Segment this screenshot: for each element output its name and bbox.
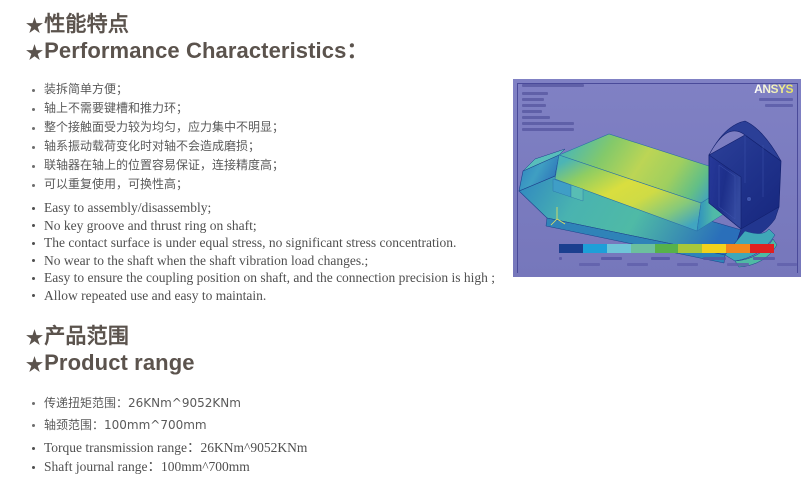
legend-tick-label: [601, 257, 622, 260]
legend-tick-label: [627, 263, 648, 266]
legend-tick-label: [753, 257, 775, 260]
list-item: Easy to ensure the coupling position on …: [30, 269, 495, 287]
legend-band: [559, 244, 583, 253]
legend-band: [726, 244, 750, 253]
performance-heading-block: ★性能特点 ★Performance Characteristics：: [0, 12, 520, 65]
star-icon: ★: [26, 17, 43, 36]
legend-band: [583, 244, 607, 253]
list-item: Easy to assembly/disassembly;: [30, 199, 495, 217]
product-range-section: ★产品范围 ★Product range 传递扭矩范围：26KNm^9052KN…: [0, 324, 520, 377]
product-heading-en: ★Product range: [26, 349, 520, 377]
ansys-fea-figure: ANSYS: [513, 79, 801, 277]
product-bullet-list-en: Torque transmission range：26KNm^9052KNm …: [0, 438, 307, 476]
legend-tick-label: [559, 257, 562, 260]
legend-band: [655, 244, 679, 253]
legend-band: [607, 244, 631, 253]
product-heading-block: ★产品范围 ★Product range: [0, 324, 520, 377]
performance-bullet-list-en: Easy to assembly/disassembly; No key gro…: [0, 199, 495, 304]
list-item: Allow repeated use and easy to maintain.: [30, 287, 495, 305]
legend-tick-label: [651, 257, 670, 260]
list-item: 轴上不需要键槽和推力环；: [30, 99, 284, 118]
page-root: ★性能特点 ★Performance Characteristics： 装拆简单…: [0, 0, 811, 477]
legend-tick-label: [677, 263, 698, 266]
performance-heading-cn: ★性能特点: [26, 12, 520, 37]
product-bullet-list-cn: 传递扭矩范围：26KNm^9052KNm 轴颈范围：100mm^700mm: [0, 392, 241, 436]
list-item: The contact surface is under equal stres…: [30, 234, 495, 252]
list-item: Torque transmission range：26KNm^9052KNm: [30, 438, 307, 457]
fea-color-legend: [559, 244, 774, 253]
list-item: 联轴器在轴上的位置容易保证，连接精度高；: [30, 156, 284, 175]
legend-band: [678, 244, 702, 253]
performance-heading-en-text: Performance Characteristics：: [44, 38, 368, 63]
product-heading-cn-text: 产品范围: [44, 325, 129, 348]
list-item: No wear to the shaft when the shaft vibr…: [30, 252, 495, 270]
legend-tick-label: [777, 263, 797, 266]
product-heading-cn: ★产品范围: [26, 324, 520, 349]
legend-tick-label: [727, 263, 749, 266]
legend-tick-label: [703, 257, 726, 260]
star-icon: ★: [26, 356, 43, 375]
performance-heading-cn-text: 性能特点: [44, 13, 129, 36]
list-item: 整个接触面受力较为均匀，应力集中不明显；: [30, 118, 284, 137]
legend-tick-label: [579, 263, 600, 266]
list-item: Shaft journal range：100mm^700mm: [30, 457, 307, 476]
performance-bullet-list-cn: 装拆简单方便； 轴上不需要键槽和推力环； 整个接触面受力较为均匀，应力集中不明显…: [0, 80, 284, 194]
performance-heading-en: ★Performance Characteristics：: [26, 37, 520, 65]
list-item: 可以重复使用，可换性高；: [30, 175, 284, 194]
star-icon: ★: [26, 329, 43, 348]
list-item: 装拆简单方便；: [30, 80, 284, 99]
list-item: No key groove and thrust ring on shaft;: [30, 217, 495, 235]
star-icon: ★: [26, 44, 43, 63]
product-heading-en-text: Product range: [44, 350, 194, 375]
legend-band: [631, 244, 655, 253]
legend-band: [702, 244, 726, 253]
list-item: 轴颈范围：100mm^700mm: [30, 414, 241, 436]
list-item: 轴系振动载荷变化时对轴不会造成磨损；: [30, 137, 284, 156]
list-item: 传递扭矩范围：26KNm^9052KNm: [30, 392, 241, 414]
legend-band: [750, 244, 774, 253]
fea-legend-tick-labels: [553, 257, 783, 269]
performance-characteristics-section: ★性能特点 ★Performance Characteristics： 装拆简单…: [0, 12, 520, 65]
